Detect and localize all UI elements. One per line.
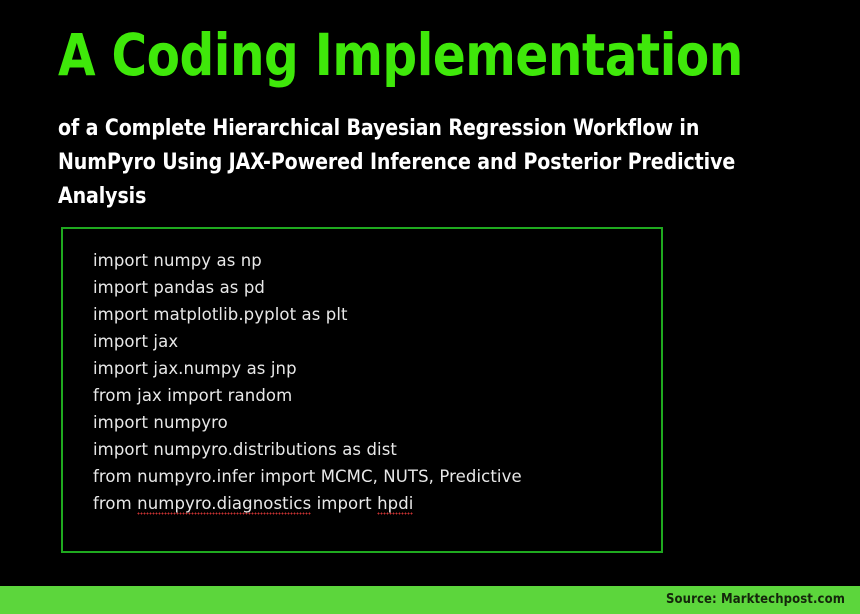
slide-canvas: A Coding Implementation of a Complete Hi…	[0, 0, 860, 614]
code-line: import jax.numpy as jnp	[93, 355, 655, 382]
code-line: import numpyro	[93, 409, 655, 436]
code-line: import pandas as pd	[93, 274, 655, 301]
code-line: from numpyro.diagnostics import hpdi	[93, 490, 655, 517]
code-line: import numpy as np	[93, 247, 655, 274]
code-block-panel: import numpy as npimport pandas as pdimp…	[61, 227, 663, 553]
source-attribution: Source: Marktechpost.com	[666, 586, 845, 614]
code-line-list: import numpy as npimport pandas as pdimp…	[93, 247, 655, 517]
page-subtitle: of a Complete Hierarchical Bayesian Regr…	[58, 112, 759, 214]
spellcheck-underline: numpyro.diagnostics	[137, 494, 311, 516]
code-line: import jax	[93, 328, 655, 355]
code-line: import numpyro.distributions as dist	[93, 436, 655, 463]
code-line: import matplotlib.pyplot as plt	[93, 301, 655, 328]
code-line: from jax import random	[93, 382, 655, 409]
spellcheck-underline: hpdi	[377, 494, 413, 516]
code-line: from numpyro.infer import MCMC, NUTS, Pr…	[93, 463, 655, 490]
footer-bar: Source: Marktechpost.com	[0, 586, 860, 614]
page-title: A Coding Implementation	[58, 24, 765, 86]
